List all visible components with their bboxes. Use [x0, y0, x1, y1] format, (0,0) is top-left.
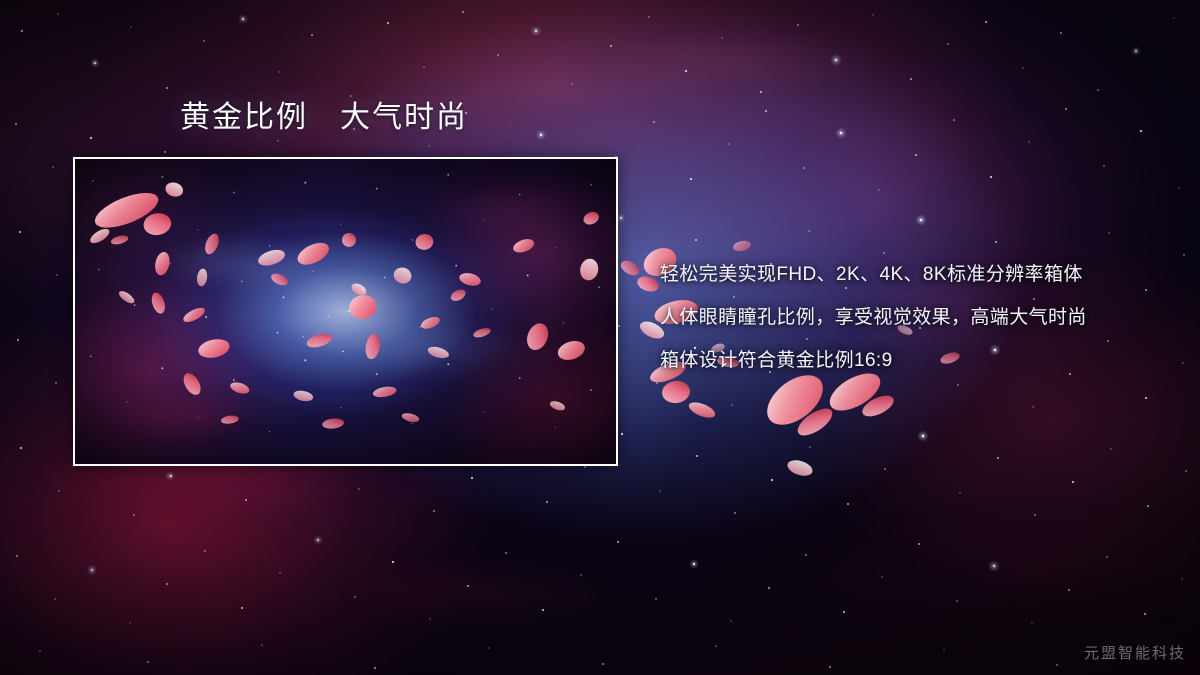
photo-petal-layer — [75, 159, 616, 464]
slide-canvas: 黄金比例 大气时尚 — [0, 0, 1200, 675]
description-text-block: 轻松完美实现FHD、2K、4K、8K标准分辨率箱体 人体眼睛瞳孔比例，享受视觉效… — [660, 253, 1160, 382]
photo-image — [75, 159, 616, 464]
description-line-3: 箱体设计符合黄金比例16:9 — [660, 339, 1160, 382]
description-line-2: 人体眼睛瞳孔比例，享受视觉效果，高端大气时尚 — [660, 296, 1160, 339]
page-title: 黄金比例 大气时尚 — [180, 101, 468, 136]
description-line-1: 轻松完美实现FHD、2K、4K、8K标准分辨率箱体 — [660, 253, 1160, 296]
photo-frame — [73, 157, 618, 466]
watermark: 元盟智能科技 — [1084, 642, 1186, 663]
